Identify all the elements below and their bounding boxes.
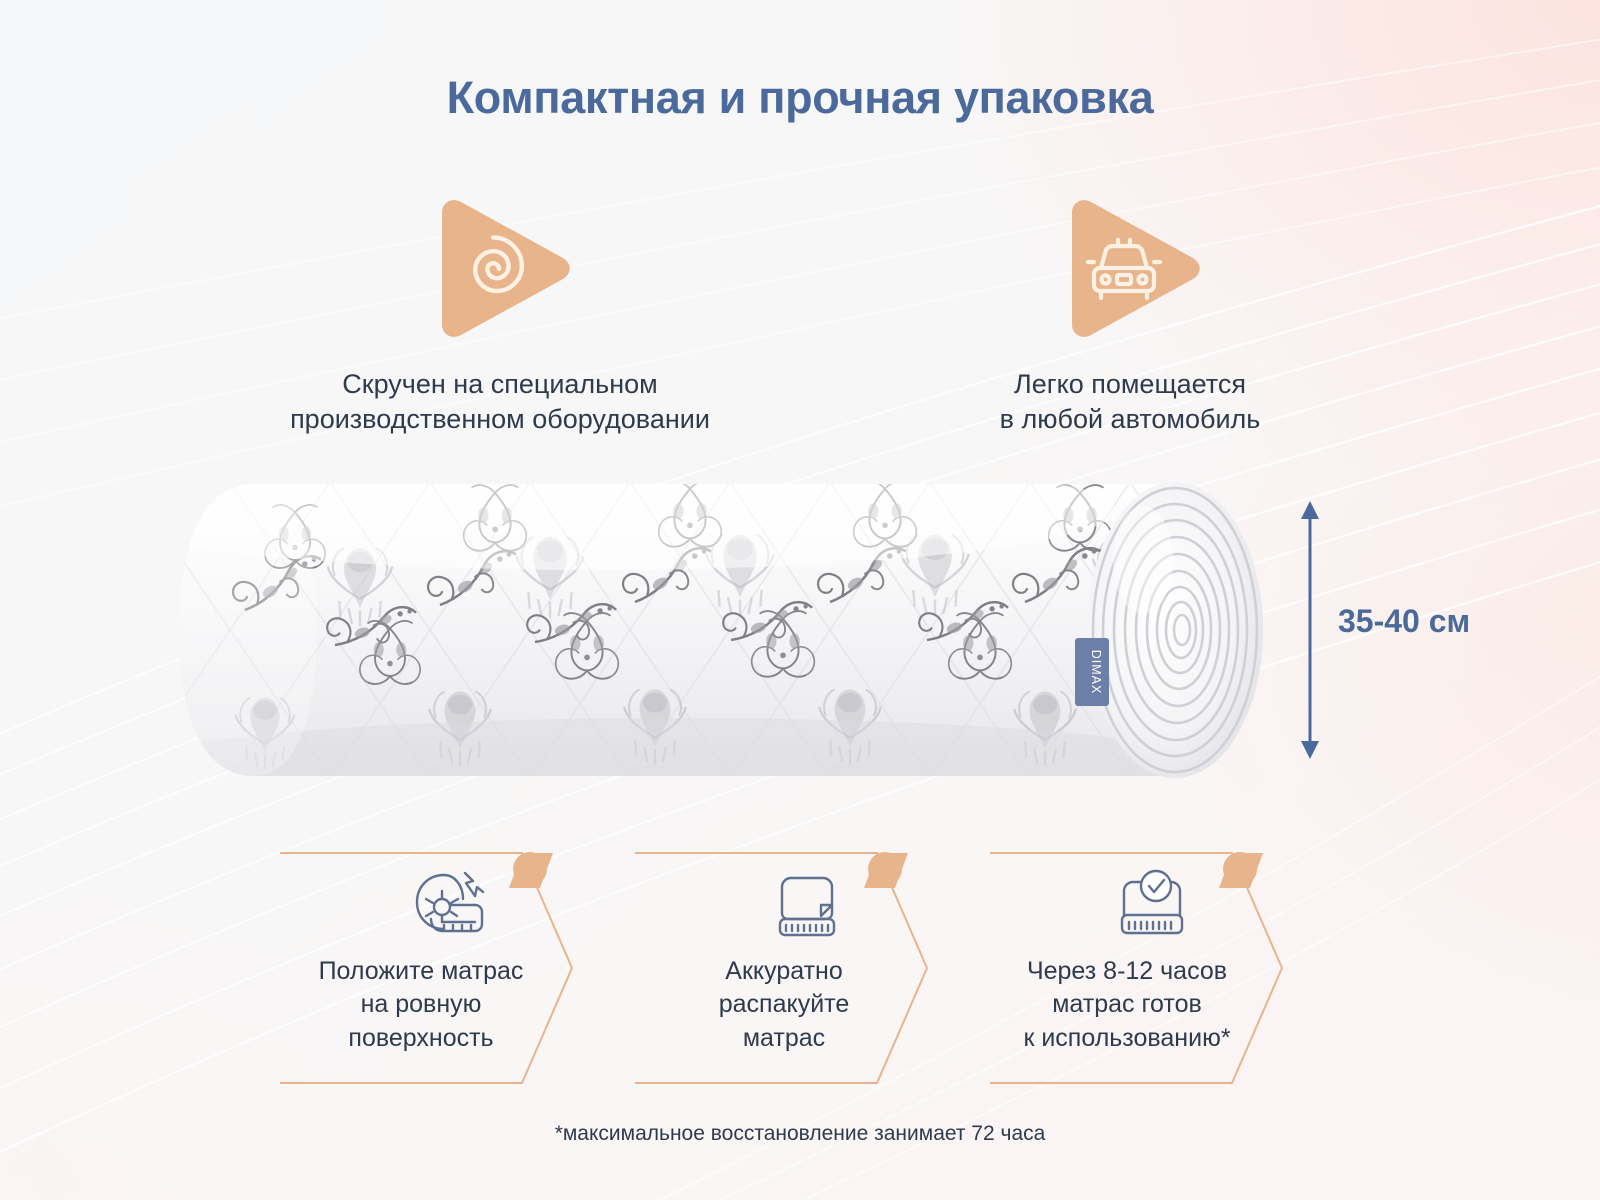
footnote-text: *максимальное восстановление занимает 72… [0, 1122, 1600, 1146]
mattress-unwrap-icon [766, 869, 848, 943]
car-icon [1055, 196, 1205, 341]
step-item-3: 3 Через 8-12 часов матрас готов к исполь… [972, 843, 1332, 1093]
roll-spiral-end [1087, 482, 1263, 778]
rolled-mattress-arrow-icon [411, 869, 493, 943]
step-number-badge: 1 [500, 852, 511, 874]
feature-caption: Легко помещается в любой автомобиль [830, 367, 1430, 437]
step-text: Аккуратно распакуйте матрас [639, 955, 929, 1055]
rolled-mattress-image: DIMAX [175, 470, 1285, 790]
dimension-indicator: 35-40 см [1290, 495, 1530, 765]
brand-tag: DIMAX [1075, 638, 1109, 706]
step-number-badge: 3 [1210, 852, 1221, 874]
step-text: Через 8-12 часов матрас готов к использо… [972, 955, 1282, 1055]
feature-item-car: Легко помещается в любой автомобиль [830, 196, 1430, 437]
step-item-2: 2 Аккуратно распакуйте матрас [627, 843, 987, 1093]
mattress-check-icon [1111, 869, 1193, 943]
car-icon-badge [1055, 196, 1205, 341]
page-title: Компактная и прочная упаковка [0, 72, 1600, 124]
spiral-roll-icon-badge [425, 196, 575, 341]
spiral-roll-icon [425, 196, 575, 341]
step-item-1: 1 Положите матрас на ровную поверхность [272, 843, 632, 1093]
brand-tag-label: DIMAX [1089, 650, 1103, 695]
steps-section: 1 Положите матрас на ровную поверхность … [272, 843, 1362, 1093]
feature-item-roll: Скручен на специальном производственном … [180, 196, 820, 437]
step-text: Положите матрас на ровную поверхность [276, 955, 566, 1055]
feature-caption: Скручен на специальном производственном … [180, 367, 820, 437]
roll-left-cap [179, 484, 317, 776]
dimension-label: 35-40 см [1338, 603, 1470, 640]
